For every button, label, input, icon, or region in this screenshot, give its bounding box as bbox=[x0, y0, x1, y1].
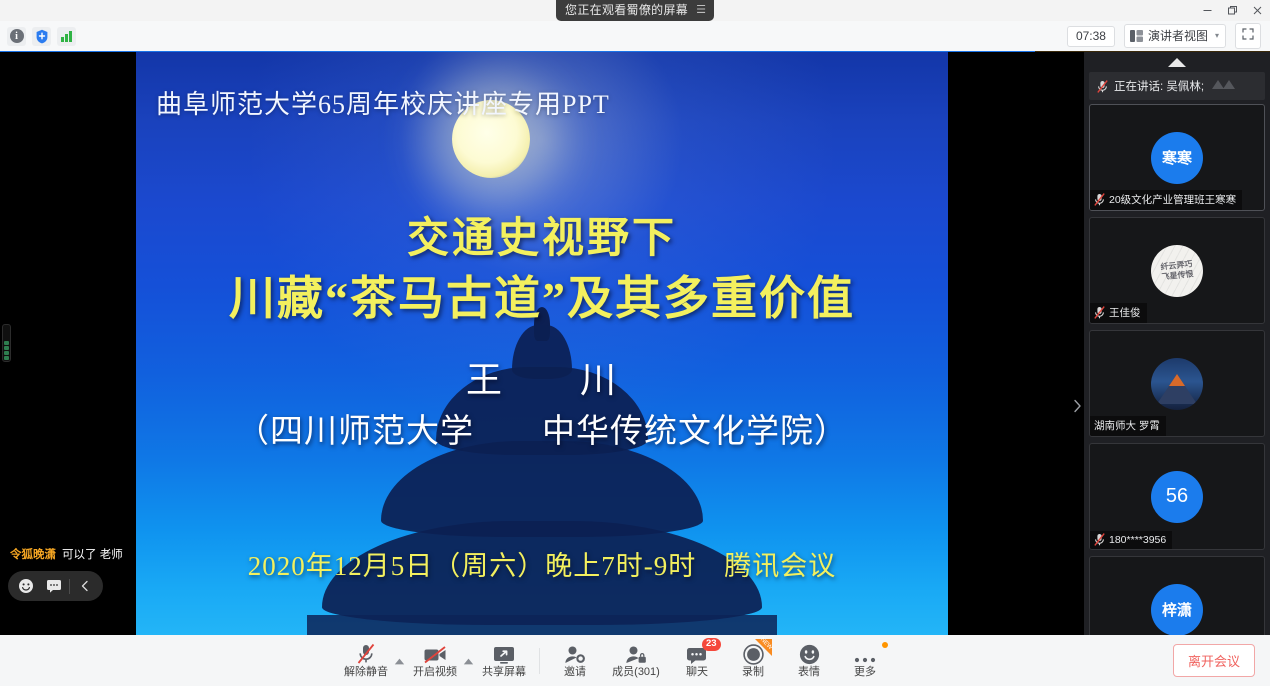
network-status-button[interactable] bbox=[57, 27, 76, 46]
meeting-control-bar: 解除静音 开启视频 共享屏幕 邀请 成员(301) 聊天23 bbox=[0, 635, 1270, 686]
mic-muted-icon bbox=[1097, 80, 1108, 93]
participant-name-tag: 王佳俊 bbox=[1090, 303, 1147, 323]
participant-name: 湖南师大 罗霄 bbox=[1094, 418, 1160, 433]
control-members[interactable]: 成员(301) bbox=[603, 637, 669, 684]
slide-date-line: 2020年12月5日（周六）晚上7时-9时 腾讯会议 bbox=[136, 544, 948, 583]
meeting-window: 您正在观看蜀僚的屏幕 ☰ i bbox=[0, 0, 1270, 686]
chat-bubble-icon[interactable] bbox=[40, 572, 68, 600]
participant-tile[interactable]: 纤云弄巧飞星传恨 王佳俊 bbox=[1089, 217, 1265, 324]
chevron-down-icon[interactable]: ▾ bbox=[1215, 31, 1219, 40]
rail-scroll-up[interactable] bbox=[1084, 52, 1270, 72]
control-label: 开启视频 bbox=[413, 666, 457, 678]
control-invite-person[interactable]: 邀请 bbox=[547, 637, 603, 684]
control-label: 表情 bbox=[798, 666, 820, 678]
participant-tiles: 寒寒 20级文化产业管理班王寒寒 纤云弄巧飞星传恨 王佳俊 湖南师大 罗霄 bbox=[1089, 104, 1265, 669]
view-mode-label: 演讲者视图 bbox=[1148, 27, 1208, 44]
mic-muted-icon bbox=[1094, 193, 1105, 206]
floating-mini-toolbar bbox=[8, 571, 103, 601]
divider bbox=[539, 648, 540, 674]
participant-name-tag: 180****3956 bbox=[1090, 531, 1172, 549]
avatar-text: 56 bbox=[1166, 485, 1188, 508]
window-controls bbox=[1195, 0, 1270, 21]
participant-name: 20级文化产业管理班王寒寒 bbox=[1109, 192, 1236, 207]
menu-icon[interactable]: ☰ bbox=[696, 5, 705, 16]
screen-share-banner[interactable]: 您正在观看蜀僚的屏幕 ☰ bbox=[556, 0, 714, 21]
close-icon[interactable] bbox=[1245, 0, 1270, 21]
control-video-off[interactable]: 开启视频 bbox=[407, 637, 463, 684]
control-chat[interactable]: 聊天23 bbox=[669, 637, 725, 684]
toolbar-left-icons: i bbox=[0, 27, 76, 46]
chevron-up-icon[interactable] bbox=[463, 637, 476, 684]
shield-icon bbox=[35, 29, 49, 44]
emoji-icon[interactable] bbox=[12, 572, 40, 600]
avatar: 寒寒 bbox=[1151, 132, 1203, 184]
presentation-slide: 曲阜师范大学65周年校庆讲座专用PPT 交通史视野下 川藏“茶马古道”及其多重价… bbox=[136, 52, 948, 635]
members-icon bbox=[625, 643, 647, 665]
avatar bbox=[1151, 358, 1203, 410]
control-label: 成员(301) bbox=[612, 666, 660, 678]
notification-dot bbox=[882, 642, 888, 648]
participant-tile[interactable]: 寒寒 20级文化产业管理班王寒寒 bbox=[1089, 104, 1265, 211]
participant-tile[interactable]: 56 180****3956 bbox=[1089, 443, 1265, 550]
share-banner-text: 您正在观看蜀僚的屏幕 bbox=[565, 4, 688, 16]
control-mic-muted[interactable]: 解除静音 bbox=[338, 637, 394, 684]
emoji-face-icon bbox=[799, 643, 820, 665]
speaker-view-icon bbox=[1130, 30, 1143, 42]
avatar: 纤云弄巧飞星传恨 bbox=[1151, 245, 1203, 297]
shared-screen-stage: 曲阜师范大学65周年校庆讲座专用PPT 交通史视野下 川藏“茶马古道”及其多重价… bbox=[0, 52, 1084, 635]
control-more-dots[interactable]: 更多 bbox=[837, 637, 893, 684]
active-speaker-strip: 正在讲话: 吴佩林; bbox=[1089, 72, 1265, 100]
signal-bars-icon bbox=[61, 30, 72, 42]
participant-tile[interactable]: 湖南师大 罗霄 bbox=[1089, 330, 1265, 437]
view-mode-select[interactable]: 演讲者视图 ▾ bbox=[1124, 24, 1226, 48]
mic-level-meter bbox=[2, 324, 11, 362]
unread-badge: 23 bbox=[702, 638, 721, 651]
chat-message-text: 可以了 老师 bbox=[62, 548, 123, 563]
avatar-text: 梓潇 bbox=[1162, 599, 1192, 620]
chat-message-overlay: 令狐晚潇 可以了 老师 bbox=[10, 548, 130, 563]
avatar: 梓潇 bbox=[1151, 584, 1203, 636]
maximize-icon[interactable] bbox=[1220, 0, 1245, 21]
slide-title-line2: 川藏“茶马古道”及其多重价值 bbox=[136, 262, 948, 328]
participant-name-tag: 20级文化产业管理班王寒寒 bbox=[1090, 190, 1242, 210]
fullscreen-icon bbox=[1242, 28, 1254, 40]
control-label: 更多 bbox=[854, 666, 876, 678]
window-title-bar: 您正在观看蜀僚的屏幕 ☰ bbox=[0, 0, 1270, 21]
invite-person-icon bbox=[564, 643, 586, 665]
slide-header-text: 曲阜师范大学65周年校庆讲座专用PPT bbox=[136, 84, 948, 121]
control-label: 录制 bbox=[742, 666, 764, 678]
leave-meeting-button[interactable]: 离开会议 bbox=[1173, 644, 1255, 677]
mic-muted-icon bbox=[356, 643, 376, 665]
control-buttons: 解除静音 开启视频 共享屏幕 邀请 成员(301) 聊天23 bbox=[338, 637, 893, 684]
slide-speaker-name: 王 川 bbox=[136, 351, 948, 403]
chevron-right-icon[interactable] bbox=[1070, 397, 1084, 415]
mic-muted-icon bbox=[1094, 533, 1105, 546]
control-label: 聊天 bbox=[686, 666, 708, 678]
video-off-icon bbox=[423, 643, 447, 665]
chat-sender-name: 令狐晚潇 bbox=[10, 548, 56, 563]
control-share-screen[interactable]: 共享屏幕 bbox=[476, 637, 532, 684]
share-screen-icon bbox=[492, 643, 516, 665]
participant-name: 180****3956 bbox=[1109, 534, 1166, 546]
info-icon: i bbox=[10, 29, 24, 43]
avatar-text: 寒寒 bbox=[1162, 147, 1192, 168]
chevron-left-icon[interactable] bbox=[71, 572, 99, 600]
chevron-up-icon[interactable] bbox=[394, 637, 407, 684]
more-dots-icon bbox=[853, 643, 877, 665]
triangle-up-icon bbox=[1168, 58, 1186, 67]
divider bbox=[69, 579, 70, 594]
speaking-waveform-icon bbox=[1212, 77, 1238, 95]
participants-rail: 正在讲话: 吴佩林; 寒寒 20级文化产业管理班王寒寒 纤云弄巧飞星传恨 bbox=[1084, 52, 1270, 635]
new-tag-icon: NEW bbox=[755, 639, 772, 656]
fullscreen-button[interactable] bbox=[1235, 23, 1261, 49]
meeting-top-toolbar: i 07:38 bbox=[0, 21, 1270, 52]
avatar-text: 纤云弄巧飞星传恨 bbox=[1160, 259, 1194, 281]
slide-title-line1: 交通史视野下 bbox=[136, 204, 948, 265]
participant-name-tag: 湖南师大 罗霄 bbox=[1090, 416, 1166, 436]
avatar-image-peak bbox=[1169, 374, 1185, 386]
temple-base bbox=[307, 615, 777, 635]
mic-muted-icon bbox=[1094, 306, 1105, 319]
meeting-info-button[interactable]: i bbox=[7, 27, 26, 46]
control-label: 邀请 bbox=[564, 666, 586, 678]
speaking-label: 正在讲话: 吴佩林; bbox=[1114, 78, 1204, 94]
participant-name: 王佳俊 bbox=[1109, 305, 1141, 320]
minimize-icon[interactable] bbox=[1195, 0, 1220, 21]
avatar: 56 bbox=[1151, 471, 1203, 523]
toolbar-right-group: 07:38 演讲者视图 ▾ bbox=[1067, 23, 1270, 49]
control-label: 解除静音 bbox=[344, 666, 388, 678]
control-label: 共享屏幕 bbox=[482, 666, 526, 678]
security-button[interactable] bbox=[32, 27, 51, 46]
control-emoji-face[interactable]: 表情 bbox=[781, 637, 837, 684]
control-record[interactable]: 录制NEW bbox=[725, 637, 781, 684]
slide-affiliation: （四川师范大学 中华传统文化学院） bbox=[136, 404, 948, 452]
meeting-timer: 07:38 bbox=[1067, 26, 1115, 47]
